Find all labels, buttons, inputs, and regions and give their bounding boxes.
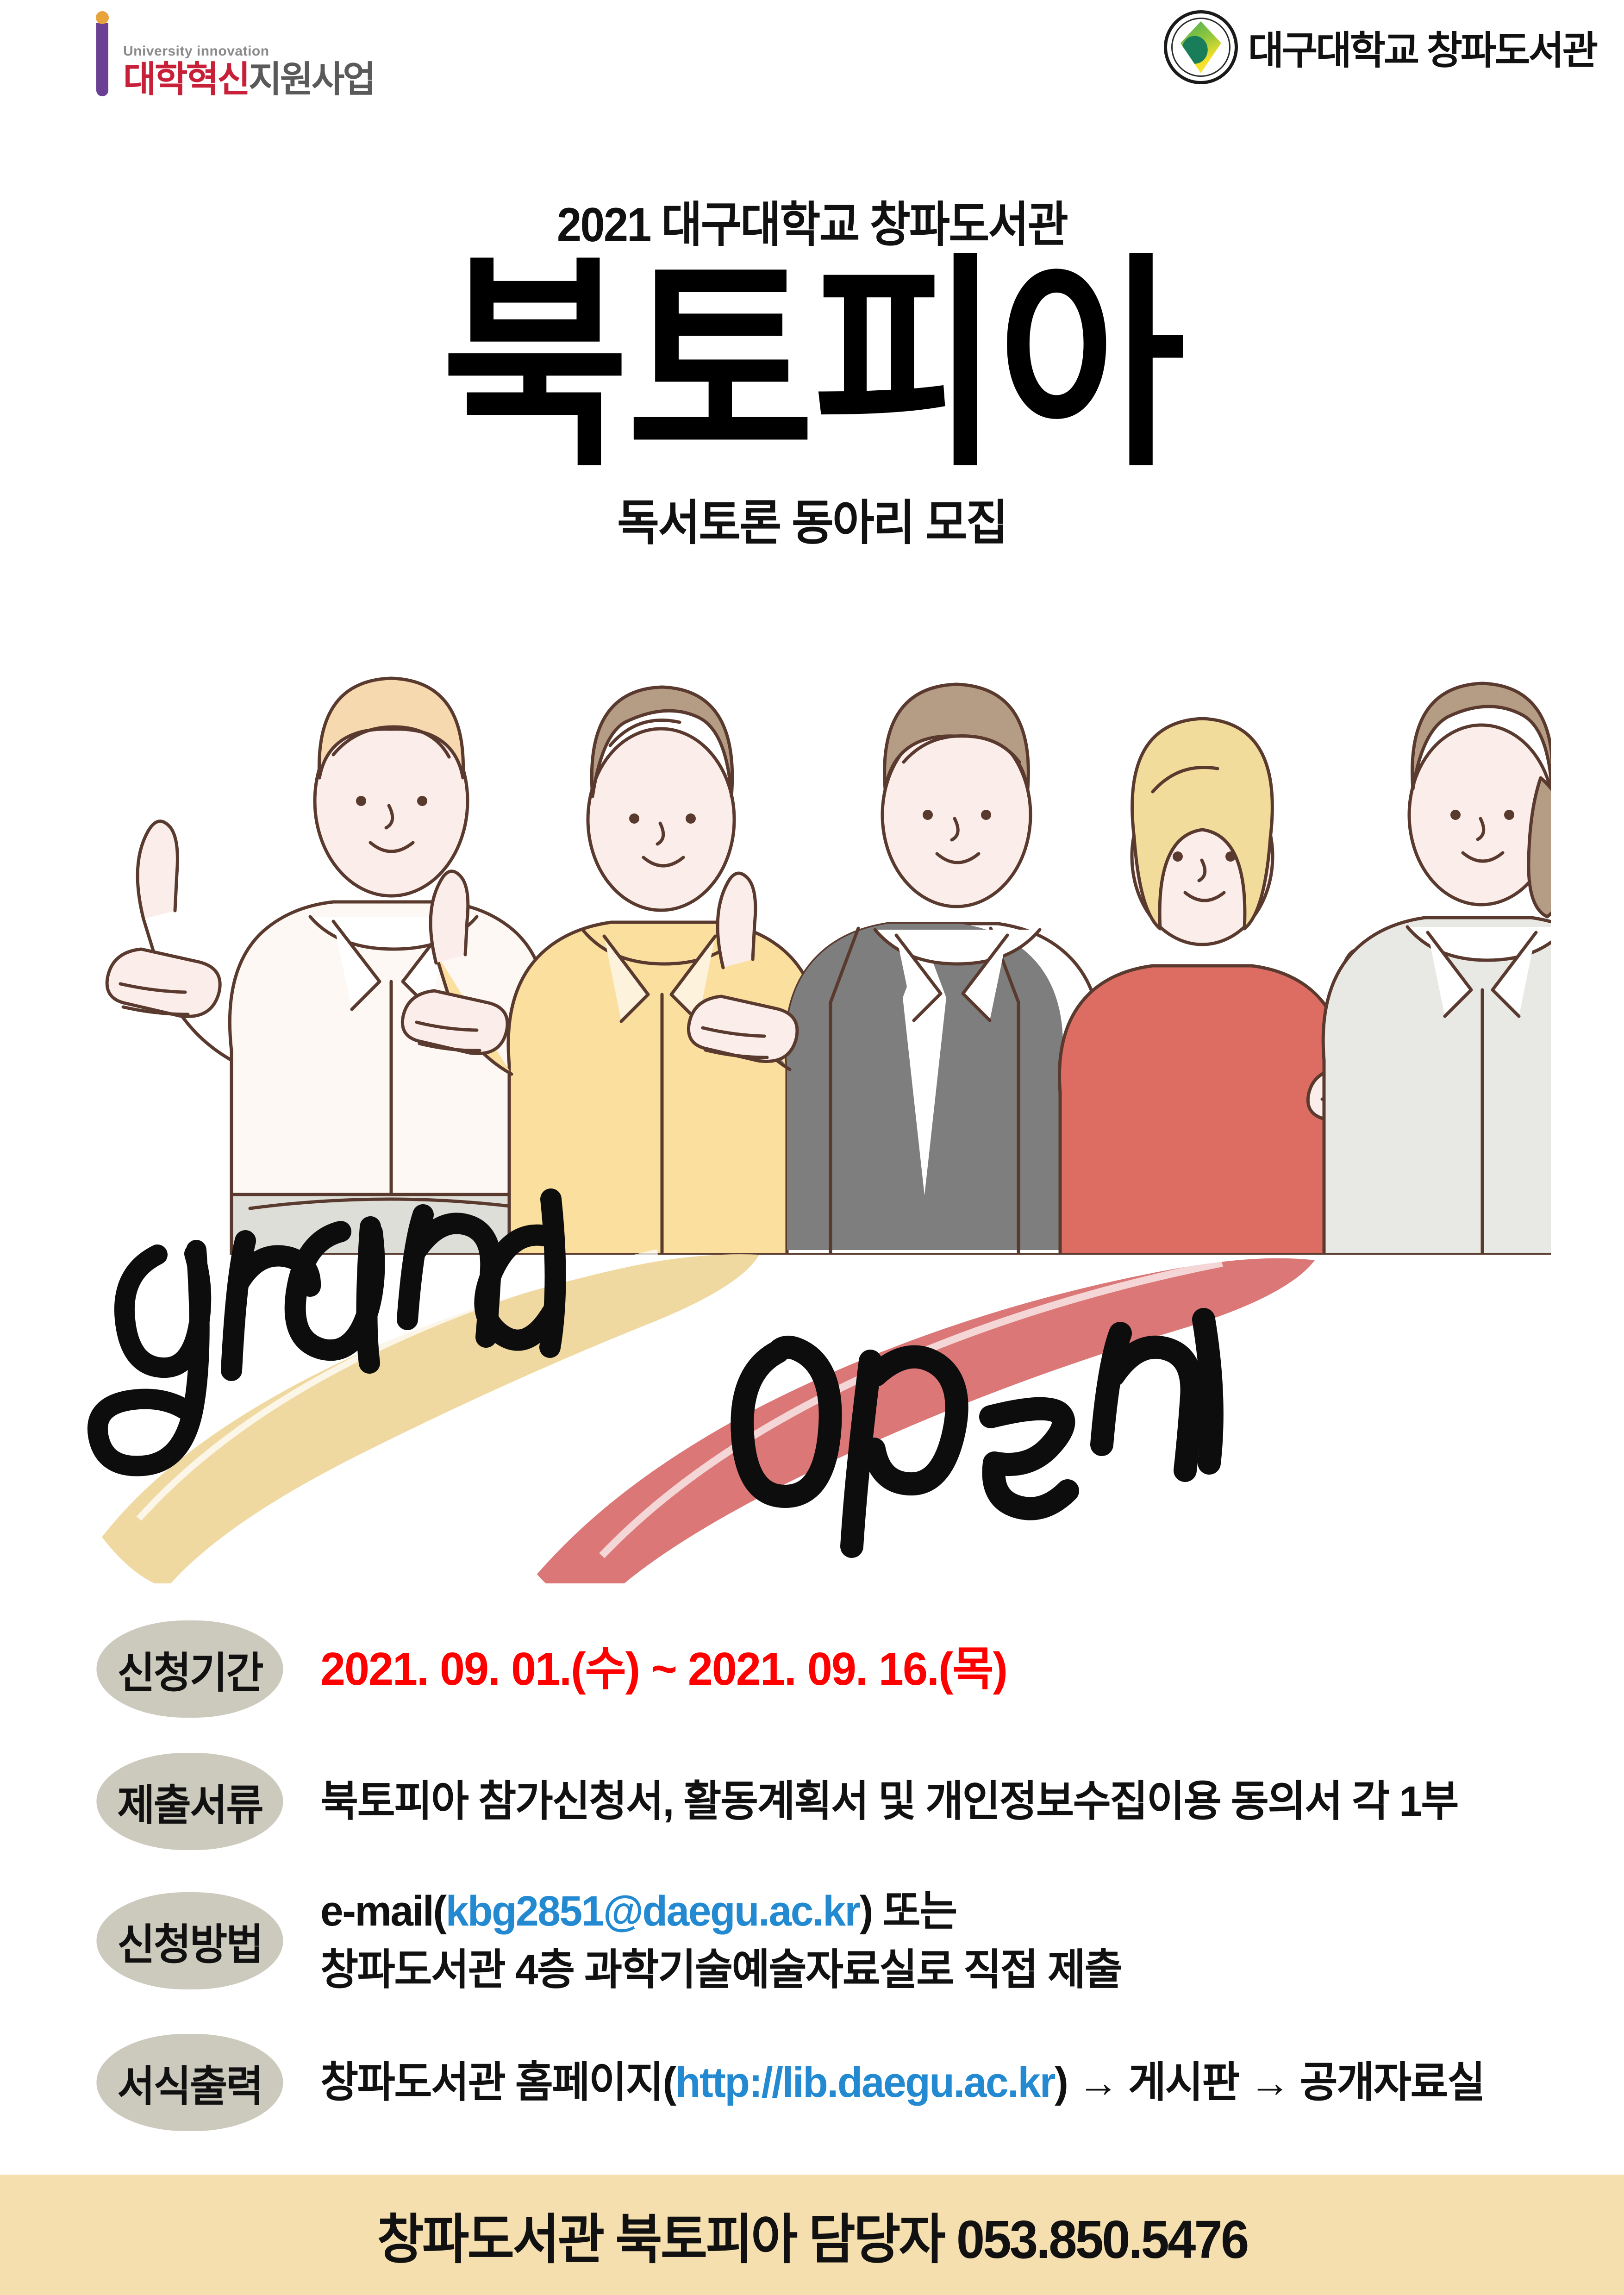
method-line-1: e-mail(kbg2851@daegu.ac.kr) 또는	[320, 1882, 1121, 1941]
library-name: 대구대학교 창파도서관	[1248, 19, 1596, 75]
footer-contact: 창파도서관 북토피아 담당자 053.850.5476	[377, 2196, 1247, 2274]
label-application-period: 신청기간	[96, 1620, 283, 1718]
info-row-period: 신청기간 2021. 09. 01.(수) ~ 2021. 09. 16.(목)	[0, 1600, 1624, 1738]
grand-open-artwork	[83, 1167, 1555, 1583]
university-innovation-logo: University innovation 대학혁신지원사업	[37, 13, 374, 101]
method-line-2: 창파도서관 4층 과학기술예술자료실로 직접 제출	[320, 1941, 1121, 2000]
value-required-documents: 북토피아 참가신청서, 활동계획서 및 개인정보수집이용 동의서 각 1부	[320, 1772, 1458, 1831]
people-illustration	[93, 597, 1551, 1255]
title-block: 2021 대구대학교 창파도서관 북토피아 독서토론 동아리 모집	[0, 185, 1624, 553]
ui-logo-english: University innovation	[123, 44, 374, 59]
poster-header: University innovation 대학혁신지원사업 대구대학교 창파도…	[0, 0, 1624, 139]
value-form-download: 창파도서관 홈페이지(http://lib.daegu.ac.kr) → 게시판…	[320, 2053, 1484, 2112]
label-required-documents: 제출서류	[96, 1753, 283, 1850]
label-form-download: 서식출력	[96, 2034, 283, 2131]
value-application-period: 2021. 09. 01.(수) ~ 2021. 09. 16.(목)	[320, 1637, 1007, 1701]
title-subtitle: 독서토론 동아리 모집	[41, 483, 1584, 553]
library-website-link[interactable]: http://lib.daegu.ac.kr	[675, 2059, 1055, 2106]
info-row-documents: 제출서류 북토피아 참가신청서, 활동계획서 및 개인정보수집이용 동의서 각 …	[0, 1741, 1624, 1862]
email-link[interactable]: kbg2851@daegu.ac.kr	[446, 1888, 860, 1935]
label-application-method: 신청방법	[96, 1892, 283, 1989]
info-section: 신청기간 2021. 09. 01.(수) ~ 2021. 09. 16.(목)…	[0, 1600, 1624, 2223]
value-application-method: e-mail(kbg2851@daegu.ac.kr) 또는 창파도서관 4층 …	[320, 1882, 1121, 2000]
forms-suffix: ) → 게시판 → 공개자료실	[1055, 2059, 1484, 2106]
daegu-library-logo: 대구대학교 창파도서관	[1164, 10, 1596, 84]
poster-footer: 창파도서관 북토피아 담당자 053.850.5476	[0, 2175, 1624, 2295]
ui-logo-korean-red: 대학혁신	[123, 59, 249, 100]
forms-prefix: 창파도서관 홈페이지(	[320, 2059, 675, 2106]
method-email-prefix: e-mail(	[320, 1888, 446, 1935]
ui-logo-korean: 대학혁신지원사업	[123, 61, 374, 97]
uj-mark-icon	[37, 13, 116, 101]
ui-logo-korean-gray: 지원사업	[249, 59, 374, 100]
info-row-method: 신청방법 e-mail(kbg2851@daegu.ac.kr) 또는 창파도서…	[0, 1864, 1624, 2017]
page-title: 북토피아	[81, 259, 1543, 472]
method-email-suffix: ) 또는	[860, 1888, 956, 1935]
info-row-forms: 서식출력 창파도서관 홈페이지(http://lib.daegu.ac.kr) …	[0, 2020, 1624, 2145]
daegu-university-seal-icon	[1164, 10, 1238, 84]
